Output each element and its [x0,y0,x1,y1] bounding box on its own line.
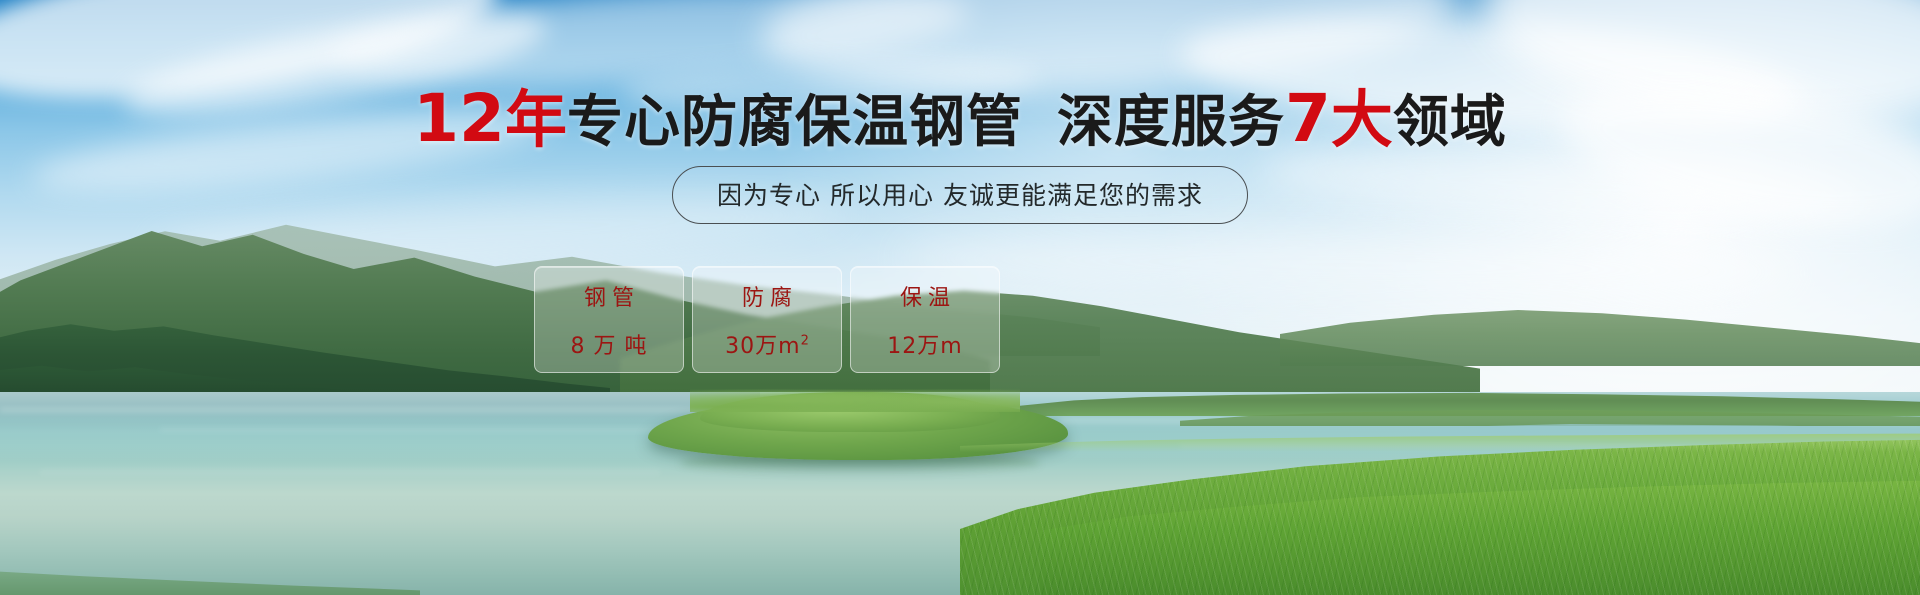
headline-fields-number: 7 [1285,80,1331,157]
banner-subtitle-pill: 因为专心 所以用心 友诚更能满足您的需求 [672,166,1248,224]
headline-service-text: 深度服务 [1057,90,1285,155]
hero-banner: 12年专心防腐保温钢管深度服务7大领域 因为专心 所以用心 友诚更能满足您的需求… [0,0,1920,595]
stat-card-value: 8 万 吨 [571,328,648,360]
stat-card-value-text: 8 万 吨 [571,334,648,359]
stat-card-value: 30万m2 [725,328,809,360]
headline-years-number: 12 [413,80,505,157]
stat-card: 防腐 30万m2 [692,266,842,373]
stat-card: 钢管 8 万 吨 [534,266,684,373]
stat-card-label: 钢管 [578,280,640,312]
headline-main-text: 专心防腐保温钢管 [567,90,1023,155]
headline-fields-unit: 大 [1331,83,1393,156]
stat-card-value: 12万m [887,328,962,360]
stat-card: 保温 12万m [850,266,1000,373]
banner-headline: 12年专心防腐保温钢管深度服务7大领域 [0,86,1920,152]
stat-card-value-superscript: 2 [801,333,809,348]
stat-card-label: 防腐 [736,280,798,312]
stat-card-value-text: 30万m [725,334,800,359]
headline-fields-text: 领域 [1393,90,1507,155]
headline-years-unit: 年 [505,83,567,156]
banner-subtitle-wrap: 因为专心 所以用心 友诚更能满足您的需求 [0,166,1920,224]
stats-card-group: 钢管 8 万 吨 防腐 30万m2 保温 12万m [534,266,1000,373]
stat-card-value-text: 12万m [887,334,962,359]
banner-content: 12年专心防腐保温钢管深度服务7大领域 因为专心 所以用心 友诚更能满足您的需求… [0,0,1920,595]
stat-card-label: 保温 [894,280,956,312]
